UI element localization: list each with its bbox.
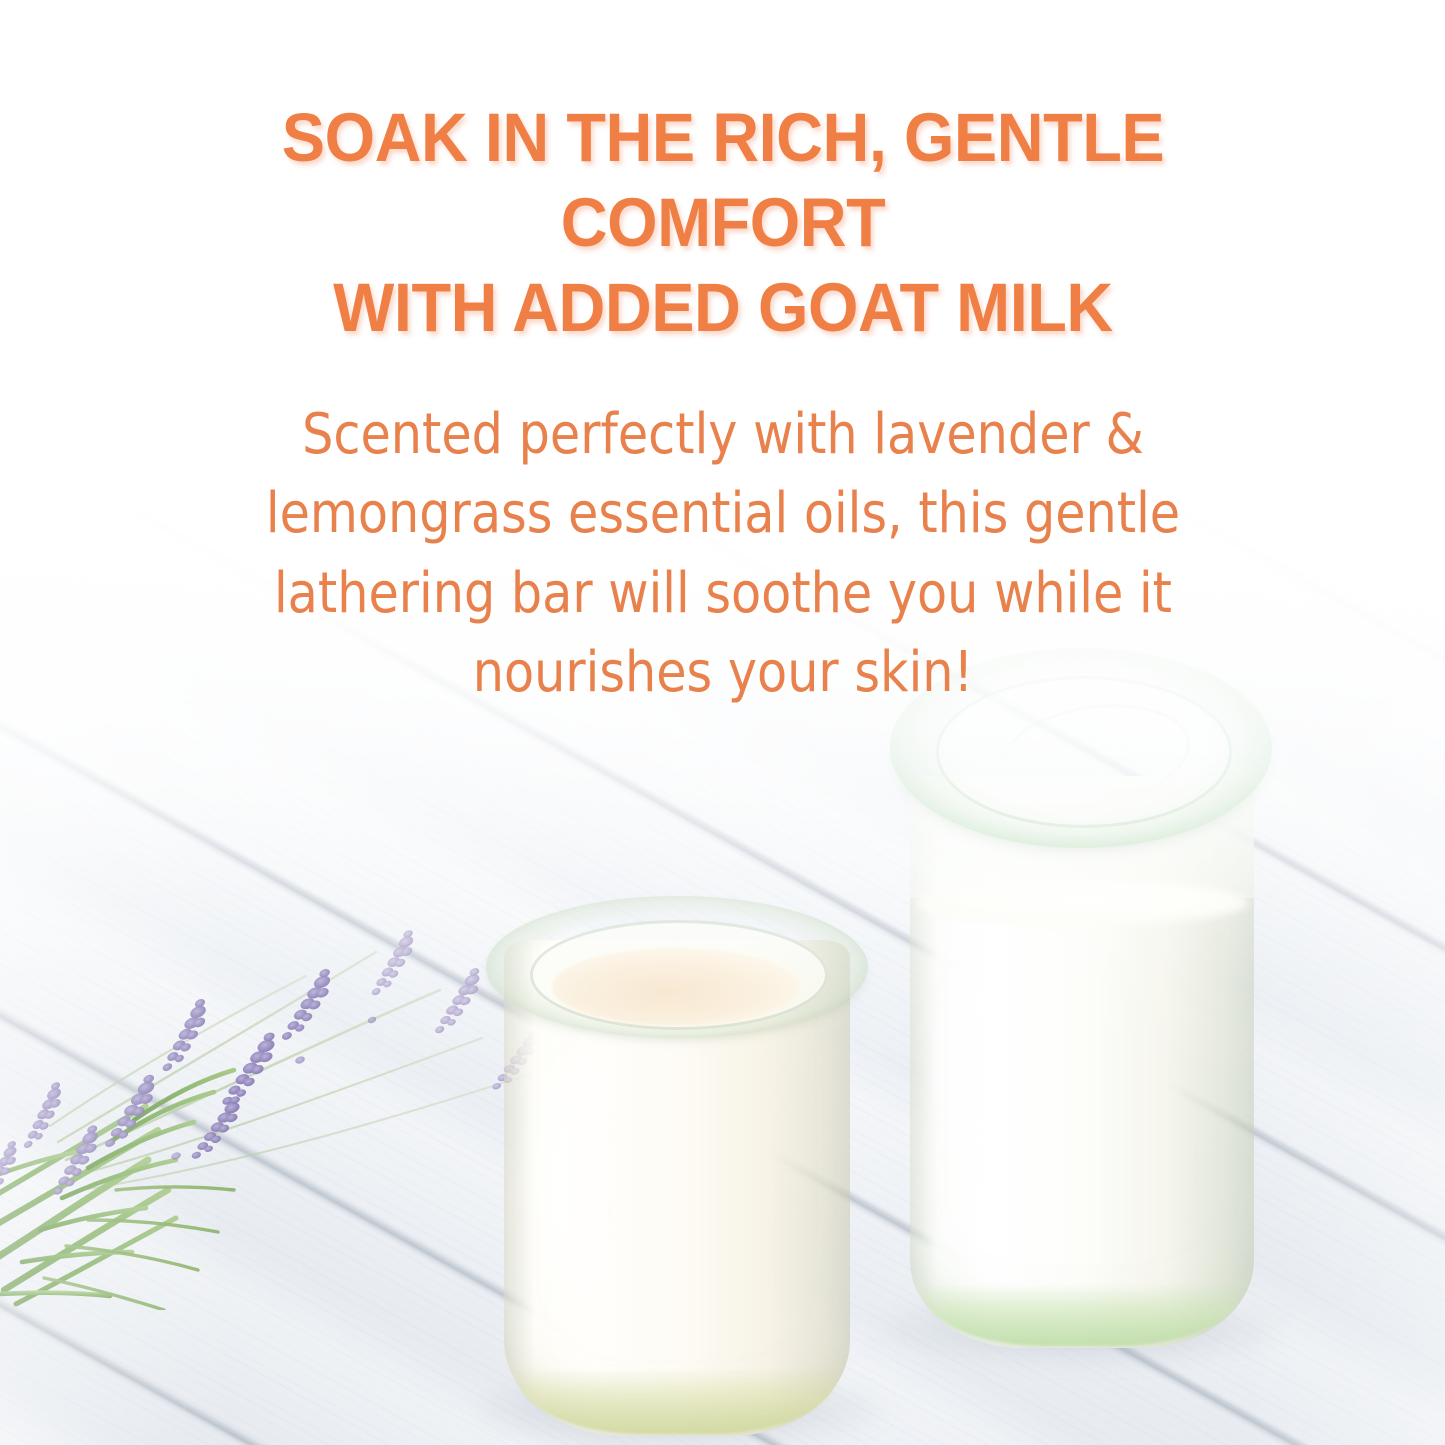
headline-line-2: WITH ADDED GOAT MILK xyxy=(333,269,1113,346)
subhead-line-2: lemongrass essential oils, this gentle xyxy=(265,481,1179,546)
subhead-line-3: lathering bar will soothe you while it xyxy=(273,561,1171,626)
subhead-line-4: nourishes your skin! xyxy=(472,640,973,705)
subheadline: Scented perfectly with lavender & lemong… xyxy=(252,395,1194,713)
subhead-line-1: Scented perfectly with lavender & xyxy=(302,402,1144,467)
headline-line-1: SOAK IN THE RICH, GENTLE COMFORT xyxy=(281,99,1163,261)
headline: SOAK IN THE RICH, GENTLE COMFORT WITH AD… xyxy=(135,96,1310,351)
product-banner: SOAK IN THE RICH, GENTLE COMFORT WITH AD… xyxy=(0,0,1445,1445)
copy-block: SOAK IN THE RICH, GENTLE COMFORT WITH AD… xyxy=(0,0,1445,713)
